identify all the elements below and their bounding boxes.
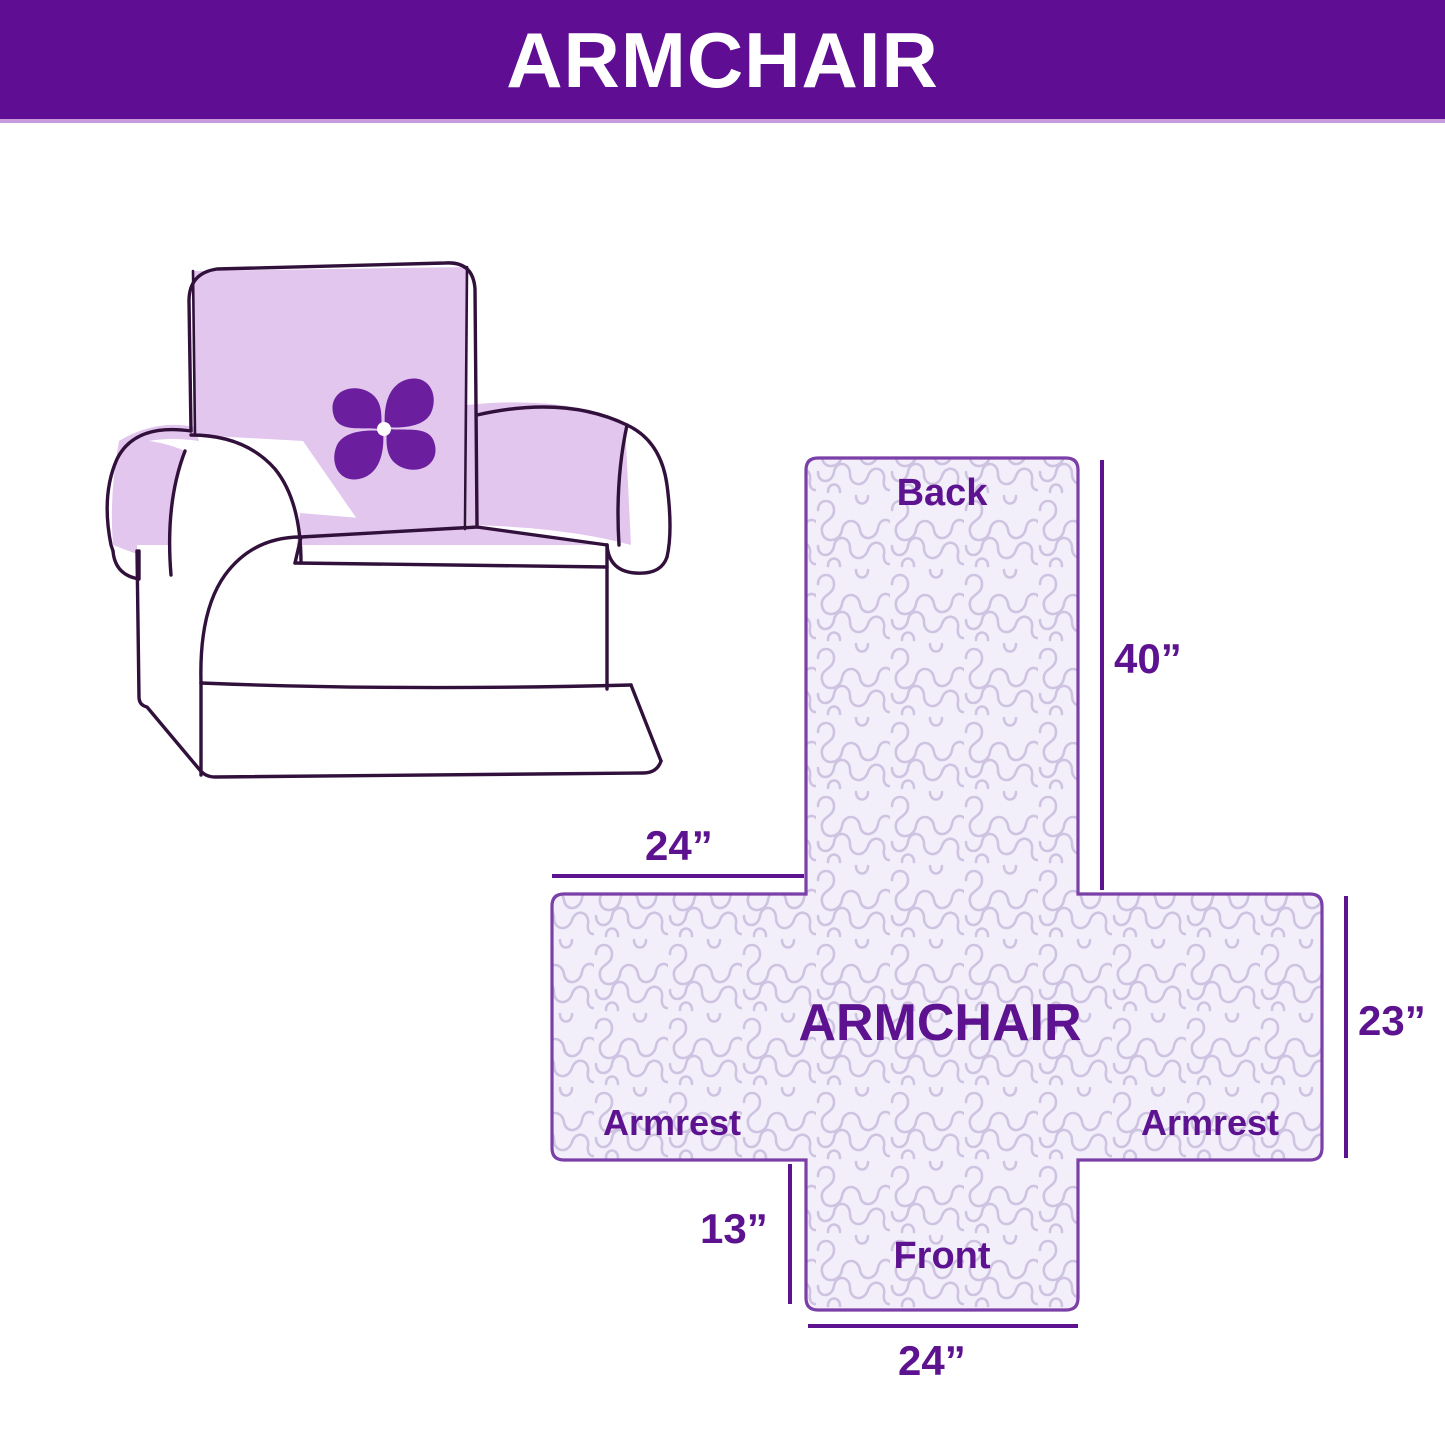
page-title: ARMCHAIR [0, 0, 1445, 119]
panel-label-back: Back [897, 472, 989, 514]
dimension-label-center-height: 23” [1358, 1000, 1426, 1042]
cover-cross-shape [552, 458, 1322, 1310]
cover-layout-diagram: .crs { fill:url(#quilt); stroke:#7B3FA8;… [520, 420, 1445, 1420]
panel-label-armrest-left: Armrest [603, 1102, 741, 1143]
panel-label-armrest-right: Armrest [1141, 1102, 1279, 1143]
panel-label-center: ARMCHAIR [798, 994, 1081, 1052]
dimension-label-front-depth: 13” [700, 1208, 768, 1250]
panel-label-front: Front [893, 1235, 990, 1277]
dimension-label-back-width: 24” [645, 825, 713, 867]
header-underline-divider [0, 119, 1445, 123]
dimension-label-back-height: 40” [1114, 638, 1182, 680]
dimension-label-front-width: 24” [898, 1340, 966, 1382]
cover-layout-svg: .crs { fill:url(#quilt); stroke:#7B3FA8;… [520, 420, 1445, 1420]
header-banner: ARMCHAIR [0, 0, 1445, 119]
